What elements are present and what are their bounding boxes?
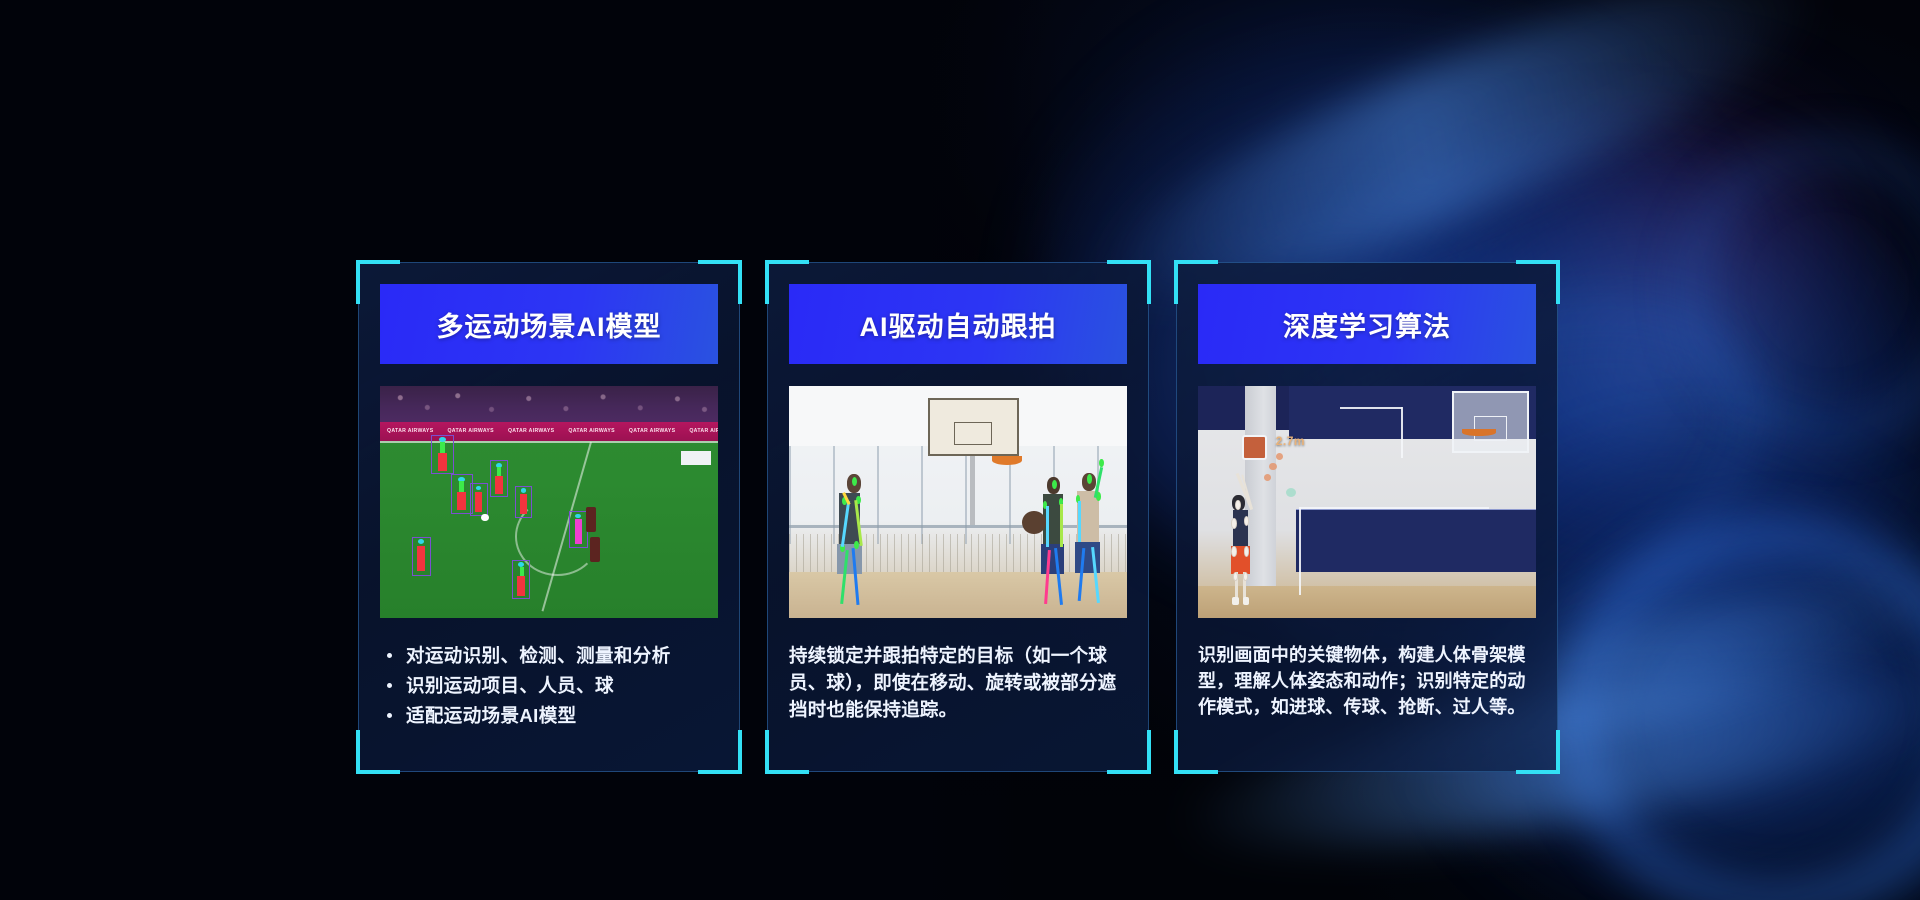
detection-box (412, 537, 431, 576)
pose-skeleton (1222, 488, 1263, 604)
detection-box (431, 435, 455, 474)
card-body: 对运动识别、检测、测量和分析 识别运动项目、人员、球 适配运动场景AI模型 (380, 642, 720, 733)
card-media-shot-trajectory: 2.7m (1198, 386, 1536, 618)
feature-card-multi-sport-ai-model[interactable]: 多运动场景AI模型 QATAR AIRWAYSQATAR AIRWAYSQATA… (358, 262, 740, 772)
distance-label: 2.7m (1276, 434, 1305, 448)
list-item: 对运动识别、检测、测量和分析 (380, 642, 720, 669)
basketball-backboard (928, 398, 1019, 456)
detection-box (470, 483, 489, 515)
feature-card-ai-auto-tracking[interactable]: AI驱动自动跟拍 (767, 262, 1149, 772)
ball-marker-box (1242, 435, 1267, 461)
stadium-stands (380, 386, 718, 425)
feature-cards-slide: 多运动场景AI模型 QATAR AIRWAYSQATAR AIRWAYSQATA… (0, 0, 1920, 900)
card-body: 持续锁定并跟拍特定的目标（如一个球员、球），即使在移动、旋转或被部分遮挡时也能保… (789, 642, 1129, 724)
detection-box (490, 460, 509, 497)
tracking-line (1299, 507, 1488, 509)
feature-bullet-list: 对运动识别、检测、测量和分析 识别运动项目、人员、球 适配运动场景AI模型 (380, 642, 720, 730)
card-title: AI驱动自动跟拍 (789, 284, 1127, 364)
court-wall-padding (1296, 509, 1536, 572)
pose-skeleton (1066, 467, 1113, 606)
pose-skeleton (830, 474, 877, 609)
tracking-line (1340, 407, 1403, 409)
card-title: 多运动场景AI模型 (380, 284, 718, 364)
card-title: 深度学习算法 (1198, 284, 1536, 364)
tracking-line (1299, 507, 1301, 595)
tracking-line (1401, 407, 1403, 458)
card-body: 识别画面中的关键物体，构建人体骨架模型，理解人体姿态和动作；识别特定的动作模式，… (1198, 642, 1538, 720)
detection-box (569, 511, 588, 548)
card-media-soccer-detection: QATAR AIRWAYSQATAR AIRWAYSQATAR AIRWAYS … (380, 386, 718, 618)
card-description: 持续锁定并跟拍特定的目标（如一个球员、球），即使在移动、旋转或被部分遮挡时也能保… (789, 642, 1129, 724)
basketball-hoop (992, 456, 1022, 465)
feature-card-deep-learning-algorithm[interactable]: 深度学习算法 (1176, 262, 1558, 772)
card-description: 识别画面中的关键物体，构建人体骨架模型，理解人体姿态和动作；识别特定的动作模式，… (1198, 642, 1538, 720)
detection-box (515, 486, 532, 518)
basketball-hoop (1462, 429, 1496, 436)
list-item: 识别运动项目、人员、球 (380, 672, 720, 699)
list-item: 适配运动场景AI模型 (380, 702, 720, 729)
basketball-backboard (1452, 391, 1530, 454)
detection-box (512, 560, 531, 599)
card-media-gym-skeleton (789, 386, 1127, 618)
feature-card-list: 多运动场景AI模型 QATAR AIRWAYSQATAR AIRWAYSQATA… (0, 0, 1920, 900)
